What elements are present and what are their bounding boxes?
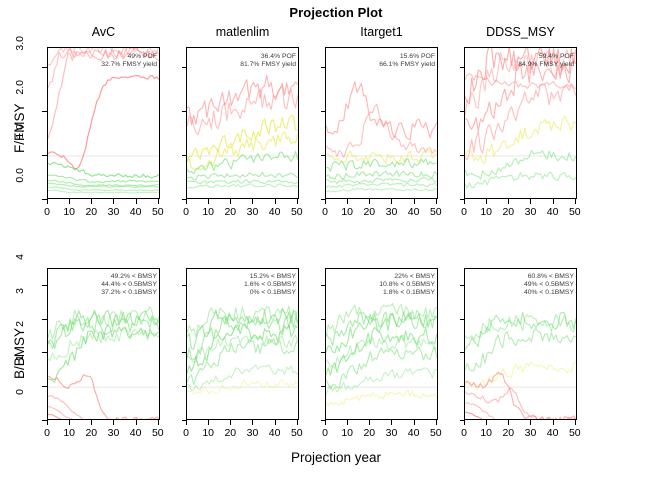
panel-title-ddss_msy: DDSS_MSY — [464, 25, 577, 39]
y-tick-mark — [460, 111, 464, 112]
projection-trace — [326, 171, 437, 180]
x-tick-label: 50 — [421, 206, 451, 218]
y-tick-mark — [460, 285, 464, 286]
y-tick-mark — [321, 155, 325, 156]
x-tick-mark — [553, 199, 554, 204]
page-title: Projection Plot — [0, 5, 672, 20]
panel-title-avc: AvC — [47, 25, 160, 39]
y-tick-mark — [182, 155, 186, 156]
x-tick-mark — [91, 420, 92, 425]
projection-trace — [187, 172, 298, 180]
y-tick-mark — [182, 111, 186, 112]
y-tick-label: 0 — [14, 389, 26, 427]
y-tick-label: 1.0 — [14, 124, 26, 162]
y-tick-mark — [182, 386, 186, 387]
plot-frame — [464, 47, 577, 199]
projection-trace — [465, 150, 576, 179]
x-tick-mark — [297, 199, 298, 204]
projection-trace — [326, 82, 437, 140]
projection-trace — [465, 388, 576, 420]
panel-ddss_msy-b-bmsy: 60.8% < BMSY49% < 0.5BMSY40% < 0.1BMSY — [464, 268, 577, 420]
panel-itarget1-f-fmsy: 15.6% POF66.1% FMSY yield — [325, 47, 438, 199]
projection-trace — [48, 48, 159, 139]
projection-trace — [48, 162, 159, 178]
x-tick-mark — [113, 420, 114, 425]
y-tick-mark — [42, 111, 47, 112]
y-tick-mark — [42, 285, 47, 286]
y-tick-label: 1 — [14, 355, 26, 393]
y-tick-mark — [42, 352, 47, 353]
x-tick-mark — [252, 199, 253, 204]
projection-trace — [326, 335, 437, 369]
y-tick-mark — [42, 155, 47, 156]
projection-trace — [465, 85, 576, 160]
projection-trace — [187, 180, 298, 184]
x-tick-mark — [414, 199, 415, 204]
x-tick-mark — [553, 420, 554, 425]
x-tick-mark — [158, 420, 159, 425]
plot-frame — [464, 268, 577, 420]
y-tick-mark — [321, 319, 325, 320]
panel-matlenlim-f-fmsy: 36.4% POF81.7% FMSY yield — [186, 47, 299, 199]
x-tick-mark — [136, 199, 137, 204]
projection-trace — [326, 390, 437, 406]
x-tick-mark — [347, 420, 348, 425]
panel-ddss_msy-f-fmsy: 59.4% POF84.9% FMSY yield — [464, 47, 577, 199]
panel-avc-f-fmsy: 49% POF32.7% FMSY yield — [47, 47, 160, 199]
x-tick-mark — [530, 420, 531, 425]
y-tick-mark — [42, 386, 47, 387]
x-tick-mark — [136, 420, 137, 425]
y-tick-label: 2 — [14, 321, 26, 359]
plot-frame — [47, 47, 160, 199]
projection-plot-figure: Projection Plot F/FMSY B/BMSY Projection… — [0, 0, 672, 480]
projection-trace — [326, 183, 437, 188]
projection-trace — [326, 327, 437, 375]
x-tick-mark — [436, 199, 437, 204]
x-tick-mark — [186, 420, 187, 425]
y-tick-label: 3.0 — [14, 36, 26, 74]
x-tick-mark — [486, 420, 487, 425]
projection-trace — [465, 328, 576, 371]
x-tick-mark — [325, 420, 326, 425]
x-tick-mark — [252, 420, 253, 425]
x-tick-mark — [530, 199, 531, 204]
x-tick-mark — [508, 420, 509, 425]
panel-avc-b-bmsy: 49.2% < BMSY44.4% < 0.5BMSY37.2% < 0.1BM… — [47, 268, 160, 420]
y-tick-mark — [42, 67, 47, 68]
x-tick-mark — [369, 199, 370, 204]
y-tick-label: 4 — [14, 254, 26, 292]
x-tick-mark — [325, 199, 326, 204]
x-tick-mark — [113, 199, 114, 204]
plot-frame — [186, 268, 299, 420]
x-tick-mark — [91, 199, 92, 204]
x-tick-mark — [275, 420, 276, 425]
x-tick-mark — [464, 420, 465, 425]
x-tick-mark — [208, 420, 209, 425]
x-tick-mark — [369, 420, 370, 425]
projection-trace — [187, 132, 298, 170]
y-tick-mark — [460, 155, 464, 156]
x-tick-label: 50 — [282, 206, 312, 218]
y-tick-mark — [321, 352, 325, 353]
projection-trace — [465, 372, 576, 420]
projection-trace — [326, 104, 437, 157]
x-tick-mark — [575, 420, 576, 425]
projection-trace — [48, 414, 159, 420]
y-tick-label: 2.0 — [14, 80, 26, 118]
x-tick-mark — [486, 199, 487, 204]
x-tick-mark — [347, 199, 348, 204]
y-tick-label: 3 — [14, 288, 26, 326]
x-tick-mark — [575, 199, 576, 204]
projection-trace — [187, 75, 298, 125]
panel-matlenlim-b-bmsy: 15.2% < BMSY1.6% < 0.5BMSY0% < 0.1BMSY — [186, 268, 299, 420]
y-tick-mark — [460, 67, 464, 68]
x-tick-label: 50 — [143, 206, 173, 218]
x-tick-mark — [230, 420, 231, 425]
x-tick-mark — [391, 199, 392, 204]
x-tick-mark — [208, 199, 209, 204]
projection-trace — [326, 188, 437, 192]
x-tick-mark — [414, 420, 415, 425]
plot-frame — [47, 268, 160, 420]
x-tick-mark — [464, 199, 465, 204]
plot-frame — [325, 268, 438, 420]
x-tick-mark — [47, 420, 48, 425]
x-tick-mark — [508, 199, 509, 204]
x-tick-label: 50 — [143, 427, 173, 439]
y-tick-label: 0.0 — [14, 168, 26, 206]
x-tick-mark — [391, 420, 392, 425]
x-tick-mark — [436, 420, 437, 425]
y-tick-mark — [321, 67, 325, 68]
x-tick-mark — [69, 420, 70, 425]
x-tick-mark — [297, 420, 298, 425]
y-tick-mark — [321, 111, 325, 112]
projection-trace — [187, 309, 298, 349]
projection-trace — [326, 346, 437, 389]
y-tick-mark — [182, 67, 186, 68]
plot-frame — [325, 47, 438, 199]
x-tick-label: 50 — [282, 427, 312, 439]
y-tick-mark — [321, 386, 325, 387]
panel-itarget1-b-bmsy: 22% < BMSY10.8% < 0.5BMSY1.8% < 0.1BMSY — [325, 268, 438, 420]
y-tick-mark — [460, 352, 464, 353]
projection-trace — [326, 368, 437, 395]
x-tick-mark — [230, 199, 231, 204]
projection-trace — [326, 159, 437, 171]
projection-trace — [187, 152, 298, 174]
projection-trace — [48, 187, 159, 191]
y-tick-mark — [182, 319, 186, 320]
x-tick-mark — [47, 199, 48, 204]
x-tick-label: 50 — [560, 427, 590, 439]
projection-trace — [187, 184, 298, 188]
x-axis-label: Projection year — [0, 450, 672, 465]
x-tick-label: 50 — [421, 427, 451, 439]
plot-frame — [186, 47, 299, 199]
panel-title-itarget1: Itarget1 — [325, 25, 438, 39]
x-tick-mark — [158, 199, 159, 204]
x-tick-label: 50 — [560, 206, 590, 218]
y-tick-mark — [460, 319, 464, 320]
projection-trace — [187, 87, 298, 135]
projection-trace — [48, 375, 159, 420]
panel-title-matlenlim: matlenlim — [186, 25, 299, 39]
y-tick-mark — [321, 285, 325, 286]
x-tick-mark — [69, 199, 70, 204]
projection-trace — [48, 75, 159, 168]
y-tick-mark — [460, 386, 464, 387]
y-tick-mark — [42, 319, 47, 320]
x-tick-mark — [275, 199, 276, 204]
y-tick-mark — [182, 285, 186, 286]
x-tick-mark — [186, 199, 187, 204]
y-tick-mark — [182, 352, 186, 353]
